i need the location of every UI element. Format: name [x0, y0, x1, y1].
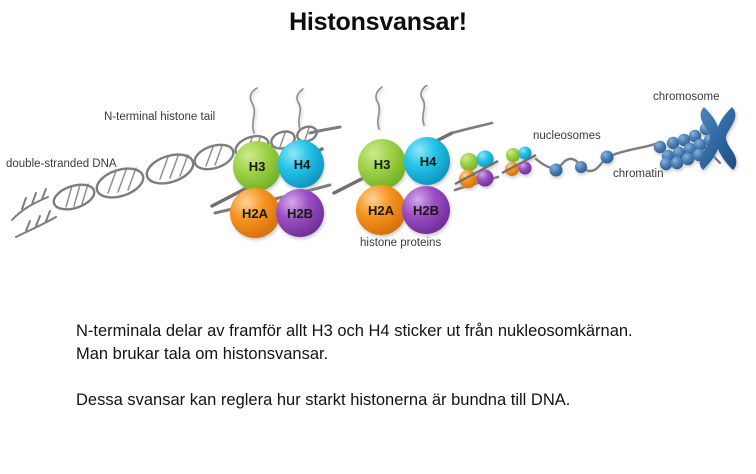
nucleosome-bead — [550, 164, 563, 177]
label-chromatin: chromatin — [613, 168, 664, 180]
body-paragraph-2: Dessa svansar kan reglera hur starkt his… — [76, 389, 716, 412]
nucleosome-beads — [550, 151, 614, 177]
histone-label-h2b: H2B — [413, 203, 439, 218]
label-chromosome: chromosome — [653, 91, 719, 103]
slide-body-text: N-terminala delar av framför allt H3 och… — [76, 320, 716, 412]
body-paragraph-1-line-2: Man brukar tala om histonsvansar. — [76, 343, 716, 366]
label-double-stranded-dna: double-stranded DNA — [6, 158, 117, 170]
histone-label-h2a: H2A — [242, 206, 269, 221]
label-n-terminal-histone-tail: N-terminal histone tail — [104, 111, 215, 123]
dna-packaging-diagram: H3 H4 H2A H2B H3 H4 H2A H2B — [0, 85, 756, 270]
nucleosome-bead — [575, 161, 587, 173]
histone-label-h4: H4 — [294, 157, 311, 172]
n-terminal-tail-curve — [250, 88, 303, 133]
nucleosome-cluster-small-2 — [502, 147, 536, 177]
n-terminal-tail-curve — [376, 85, 427, 129]
slide-canvas: Histonsvansar! — [0, 0, 756, 474]
paragraph-spacer — [76, 366, 716, 389]
nucleosome-bead — [601, 151, 614, 164]
histone-label-h3: H3 — [249, 159, 266, 174]
histone-label-h3: H3 — [374, 157, 391, 172]
page-title: Histonsvansar! — [0, 8, 756, 37]
histone-label-h2b: H2B — [287, 206, 313, 221]
label-nucleosomes: nucleosomes — [533, 130, 601, 142]
label-histone-proteins: histone proteins — [360, 237, 441, 249]
histone-label-h4: H4 — [420, 154, 437, 169]
histone-label-h2a: H2A — [368, 203, 395, 218]
body-paragraph-1-line-1: N-terminala delar av framför allt H3 och… — [76, 320, 716, 343]
